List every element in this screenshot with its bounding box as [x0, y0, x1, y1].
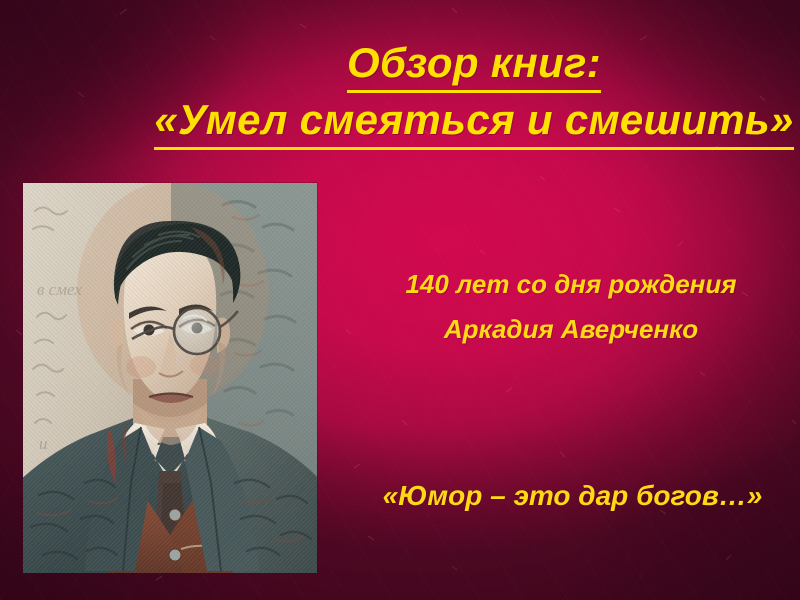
subtitle-line-1: 140 лет со дня рождения	[345, 262, 797, 307]
presentation-slide: в смех и	[0, 0, 800, 600]
title-line-1: Обзор книг:	[150, 36, 798, 93]
slide-subtitle: 140 лет со дня рождения Аркадия Аверченк…	[345, 262, 797, 352]
title-line-2-text: «Умел смеяться и смешить»	[154, 93, 793, 150]
slide-title: Обзор книг: «Умел смеяться и смешить»	[150, 36, 798, 150]
slide-quote: «Юмор – это дар богов…»	[345, 478, 800, 514]
quote-text: «Юмор – это дар богов…»	[345, 478, 800, 514]
svg-text:и: и	[39, 434, 48, 453]
title-line-2: «Умел смеяться и смешить»	[150, 93, 798, 150]
svg-text:в смех: в смех	[37, 280, 82, 299]
portrait-illustration: в смех и	[23, 183, 317, 573]
title-line-1-text: Обзор книг:	[347, 36, 601, 93]
subtitle-line-2: Аркадия Аверченко	[345, 307, 797, 352]
portrait-image: в смех и	[23, 183, 317, 573]
